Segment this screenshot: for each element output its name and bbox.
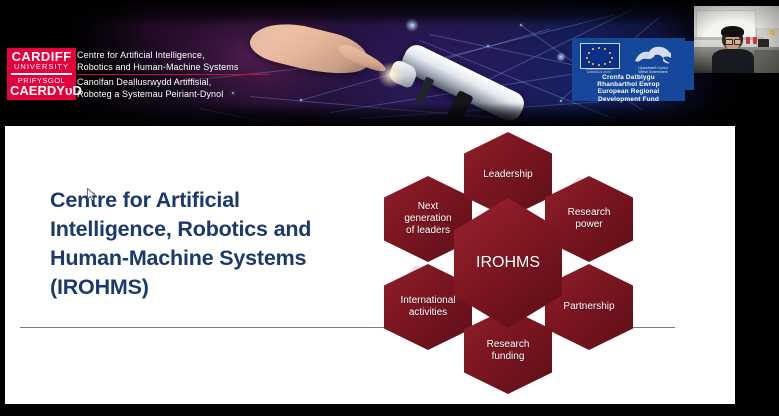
fund-line-4: Development Fund [572,96,685,103]
centre-name-welsh: Canolfan Deallusrwydd Artiffisial, Robot… [77,77,287,100]
hex-label-line-1: Research [568,207,611,218]
logo-line-university: UNIVERSITY [10,63,73,71]
hex-label-line-3: of leaders [406,225,450,236]
hex-label-line-2: power [575,219,602,230]
hex-label: Leadership [478,169,537,181]
logo-divider [11,73,72,75]
banner-fade-top [0,0,779,26]
hex-center-label: IROHMS [471,254,545,272]
window-border-bottom [0,404,779,416]
centre-name-cy-line2: Roboteg a Systemau Peiriant-Dynol [77,89,223,99]
welsh-dragon-icon [630,42,676,66]
hex-label: Partnership [558,301,619,313]
hex-label-line-2: funding [492,351,525,362]
centre-name-bilingual: Centre for Artificial Intelligence, Robo… [77,50,287,100]
hex-label: International activities [395,295,460,319]
hex-label-line-1: International [400,295,455,306]
slide-title-line-2: Intelligence, Robotics and [50,215,370,244]
slide-content: Centre for Artificial Intelligence, Robo… [5,126,735,404]
window-border-right [735,126,779,416]
webcam-video-feed[interactable] [694,6,779,73]
centre-name-en-line1: Centre for Artificial Intelligence, [77,50,205,60]
fund-line-2: Rhanbarthol Ewrop [572,81,685,88]
hex-label-line-1: Research [487,339,530,350]
slide-title-line-3: Human-Machine Systems [50,244,370,273]
webcam-vignette [694,6,779,73]
window-border-left [0,126,5,416]
slide-title-line-1: Centre for Artificial [50,186,370,215]
fund-line-1: Cronfa Datblygu [572,74,685,81]
funding-fund-name: Cronfa Datblygu Rhanbarthol Ewrop Europe… [572,74,685,103]
eu-welsh-government-funding-logo: UNDEB EWROPEAIDDEUROPEAN UNION Llywodrae… [572,38,685,101]
hex-label: Next generation of leaders [399,201,456,237]
hex-label: Research funding [482,339,535,363]
fund-line-3: European Regional [572,88,685,95]
page-title: Centre for Artificial Intelligence, Robo… [50,186,370,302]
irohms-hexagon-diagram: Next generation of leaders Leadership Re… [380,140,670,390]
centre-name-cy-line1: Canolfan Deallusrwydd Artiffisial, [77,77,211,87]
presentation-window: CARDIFF UNIVERSITY PRIFYSGOL CAERDYᴜD Ce… [0,0,779,416]
mouse-cursor [87,188,97,202]
centre-name-english: Centre for Artificial Intelligence, Robo… [77,50,269,75]
webcam-side-strip [671,41,694,90]
header-banner: CARDIFF UNIVERSITY PRIFYSGOL CAERDYᴜD Ce… [0,0,779,125]
hex-label-line-2: generation [404,213,451,224]
eu-flag-icon [580,43,620,69]
hex-label-line-2: activities [409,307,447,318]
hex-label-line-1: Next [418,201,439,212]
banner-fade-bottom [0,103,779,125]
cardiff-university-logo: CARDIFF UNIVERSITY PRIFYSGOL CAERDYᴜD [7,48,76,100]
hex-label: Research power [563,207,616,231]
centre-name-en-line2: Robotics and Human-Machine Systems [77,62,238,72]
slide-title-line-4: (IROHMS) [50,273,370,302]
logo-line-caerdydd: CAERDYᴜD [10,84,73,97]
